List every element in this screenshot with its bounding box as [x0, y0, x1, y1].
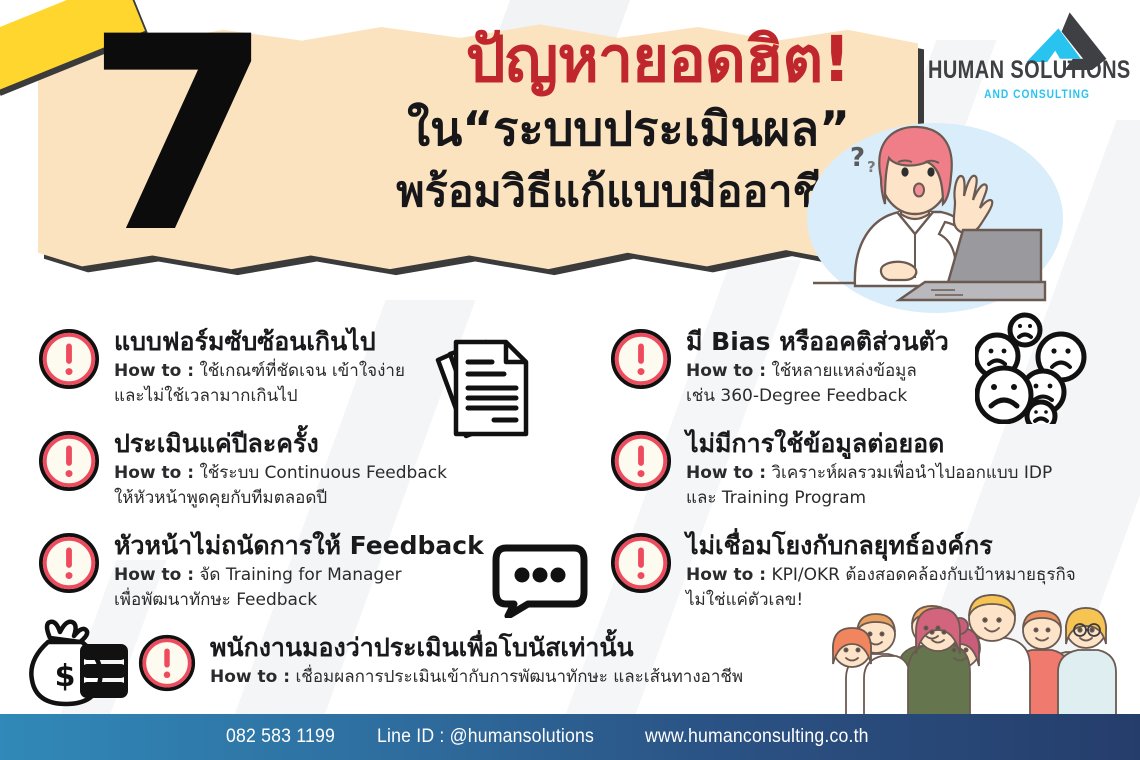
warning-exclamation-icon [38, 328, 100, 390]
speech-bubble-icon [492, 542, 588, 623]
problem-item-howto-line2: และไม่ใช้เวลามากเกินไป [114, 384, 405, 409]
howto-text: วิเคราะห์ผลรวมเพื่อนำไปออกแบบ IDP [766, 463, 1052, 483]
svg-text:$: $ [55, 659, 76, 694]
problem-item-howto-line2: ไม่ใช่แค่ตัวเลข! [686, 588, 1076, 613]
warning-exclamation-icon [38, 532, 100, 594]
howto-text: ใช้เกณฑ์ที่ชัดเจน เข้าใจง่าย [194, 361, 405, 381]
howto-text: ใช้ระบบ Continuous Feedback [194, 463, 447, 483]
problem-item-text: พนักงานมองว่าประเมินเพื่อโบนัสเท่านั้น H… [210, 632, 743, 690]
howto-label: How to : [210, 667, 290, 687]
confused-woman-at-laptop-illustration: ? ? [795, 118, 1065, 313]
warning-exclamation-icon [38, 430, 100, 492]
problem-item-howto-line1: How to : วิเคราะห์ผลรวมเพื่อนำไปออกแบบ I… [686, 461, 1052, 486]
problem-item-howto-line1: How to : ใช้ระบบ Continuous Feedback [114, 461, 447, 486]
problem-item-text: ไม่เชื่อมโยงกับกลยุทธ์องค์กร How to : KP… [686, 530, 1076, 613]
problem-item-howto-line1: How to : ใช้หลายแหล่งข้อมูล [686, 359, 949, 384]
problem-item-howto-line2: และ Training Program [686, 486, 1052, 511]
howto-text: จัด Training for Manager [194, 565, 402, 585]
headline-line-1: ปัญหายอดฮิต! [250, 22, 850, 98]
howto-label: How to : [114, 565, 194, 585]
problem-item-howto-line2: เช่น 360-Degree Feedback [686, 384, 949, 409]
footer-phone[interactable]: 082 583 1199 [226, 726, 335, 748]
problem-item-howto-line2: เพื่อพัฒนาทักษะ Feedback [114, 588, 484, 613]
sad-faces-cluster-icon [975, 312, 1101, 429]
footer-line-id[interactable]: Line ID : @humansolutions [377, 726, 594, 748]
problem-item-howto-line1: How to : จัด Training for Manager [114, 563, 484, 588]
warning-exclamation-icon [610, 430, 672, 492]
brand-logo: HUMAN SOLUTIONS AND CONSULTING [882, 6, 1112, 101]
logo-tagline: AND CONSULTING [913, 87, 1090, 101]
problem-item-title: ไม่เชื่อมโยงกับกลยุทธ์องค์กร [686, 530, 1076, 561]
howto-text: ใช้หลายแหล่งข้อมูล [766, 361, 917, 381]
footer-contact-group: 082 583 1199 Line ID : @humansolutions w… [226, 726, 885, 748]
svg-text:?: ? [867, 158, 876, 176]
howto-text: KPI/OKR ต้องสอดคล้องกับเป้าหมายธุรกิจ [766, 565, 1076, 585]
howto-label: How to : [114, 361, 194, 381]
problem-item-title: ไม่มีการใช้ข้อมูลต่อยอด [686, 428, 1052, 459]
warning-exclamation-icon [610, 328, 672, 390]
problem-item-title: พนักงานมองว่าประเมินเพื่อโบนัสเท่านั้น [210, 632, 743, 663]
problem-item-howto-line1: How to : ใช้เกณฑ์ที่ชัดเจน เข้าใจง่าย [114, 359, 405, 384]
footer-bar: 082 583 1199 Line ID : @humansolutions w… [0, 714, 1140, 760]
problem-item-text: หัวหน้าไม่ถนัดการให้ Feedback How to : จ… [114, 530, 484, 613]
problem-item: ไม่มีการใช้ข้อมูลต่อยอด How to : วิเคราะ… [610, 428, 1052, 511]
problem-item: ประเมินแค่ปีละครั้ง How to : ใช้ระบบ Con… [38, 428, 447, 511]
headline-line-3: พร้อมวิธีแก้แบบมืออาชีพ [250, 162, 850, 222]
howto-label: How to : [686, 463, 766, 483]
problem-item: ไม่เชื่อมโยงกับกลยุทธ์องค์กร How to : KP… [610, 530, 1076, 613]
footer-website[interactable]: www.humanconsulting.co.th [645, 726, 869, 748]
infographic-poster: 7 ปัญหายอดฮิต! ใน“ระบบประเมินผล” พร้อมวิ… [0, 0, 1140, 760]
problem-item-title: ประเมินแค่ปีละครั้ง [114, 428, 447, 459]
problem-item: แบบฟอร์มซับซ้อนเกินไป How to : ใช้เกณฑ์ท… [38, 326, 405, 409]
howto-label: How to : [114, 463, 194, 483]
problem-item-title: แบบฟอร์มซับซ้อนเกินไป [114, 326, 405, 357]
warning-exclamation-icon [138, 634, 196, 692]
problem-item-title: หัวหน้าไม่ถนัดการให้ Feedback [114, 530, 484, 561]
svg-text:?: ? [850, 143, 865, 173]
problem-item: มี Bias หรืออคติส่วนตัว How to : ใช้หลาย… [610, 326, 949, 409]
problem-item-text: ไม่มีการใช้ข้อมูลต่อยอด How to : วิเคราะ… [686, 428, 1052, 511]
problem-item-title: มี Bias หรืออคติส่วนตัว [686, 326, 949, 357]
headline-line-2: ใน“ระบบประเมินผล” [250, 98, 850, 162]
headline-number: 7 [86, 2, 264, 270]
problem-item-text: แบบฟอร์มซับซ้อนเกินไป How to : ใช้เกณฑ์ท… [114, 326, 405, 409]
problem-item-howto-line1: How to : เชื่อมผลการประเมินเข้ากับการพัฒ… [210, 665, 743, 690]
problem-item-howto-line1: How to : KPI/OKR ต้องสอดคล้องกับเป้าหมาย… [686, 563, 1076, 588]
money-bag-and-coins-icon: $ [26, 616, 132, 719]
problem-item: หัวหน้าไม่ถนัดการให้ Feedback How to : จ… [38, 530, 484, 613]
problem-item-text: ประเมินแค่ปีละครั้ง How to : ใช้ระบบ Con… [114, 428, 447, 511]
howto-label: How to : [686, 565, 766, 585]
howto-label: How to : [686, 361, 766, 381]
warning-exclamation-icon [610, 532, 672, 594]
problem-item-howto-line2: ให้หัวหน้าพูดคุยกับทีมตลอดปี [114, 486, 447, 511]
howto-text: เชื่อมผลการประเมินเข้ากับการพัฒนาทักษะ แ… [290, 667, 743, 687]
headline-title-block: ปัญหายอดฮิต! ใน“ระบบประเมินผล” พร้อมวิธี… [250, 22, 850, 222]
logo-company-name: HUMAN SOLUTIONS [928, 56, 1112, 85]
problem-item: พนักงานมองว่าประเมินเพื่อโบนัสเท่านั้น H… [138, 632, 743, 692]
problem-item-text: มี Bias หรืออคติส่วนตัว How to : ใช้หลาย… [686, 326, 949, 409]
